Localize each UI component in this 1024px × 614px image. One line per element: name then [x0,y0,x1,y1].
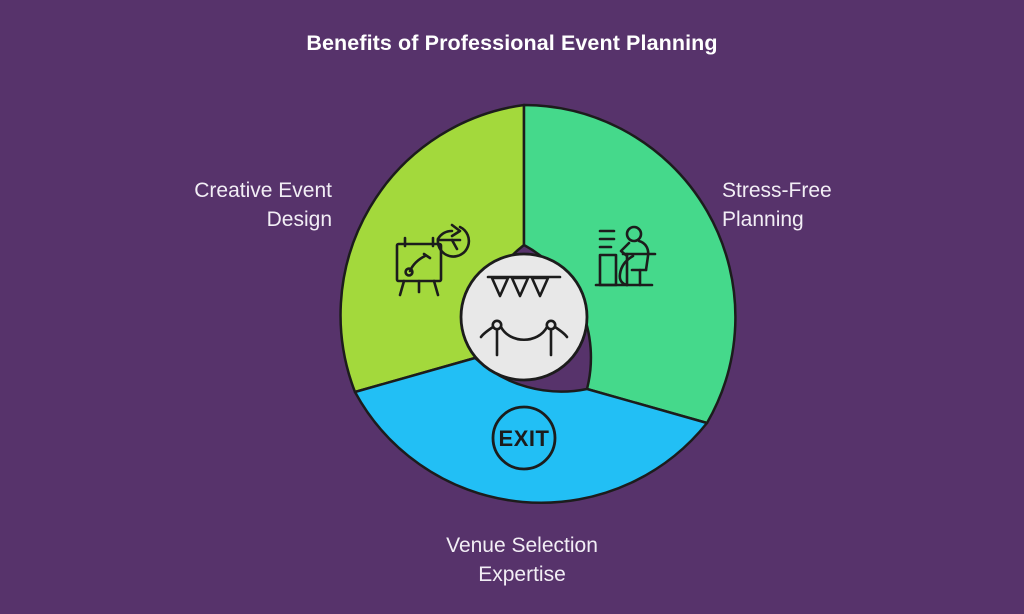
segment-label-venue-selection-expertise: Venue Selection Expertise [362,531,682,589]
segment-label-creative-event-design: Creative Event Design [110,176,332,234]
center-circle[interactable] [461,254,587,380]
segment-label-stress-free-planning: Stress-Free Planning [722,176,962,234]
center-hub[interactable] [461,254,587,380]
radial-diagram: EXIT [0,0,1024,614]
exit-sign-label: EXIT [499,426,550,451]
